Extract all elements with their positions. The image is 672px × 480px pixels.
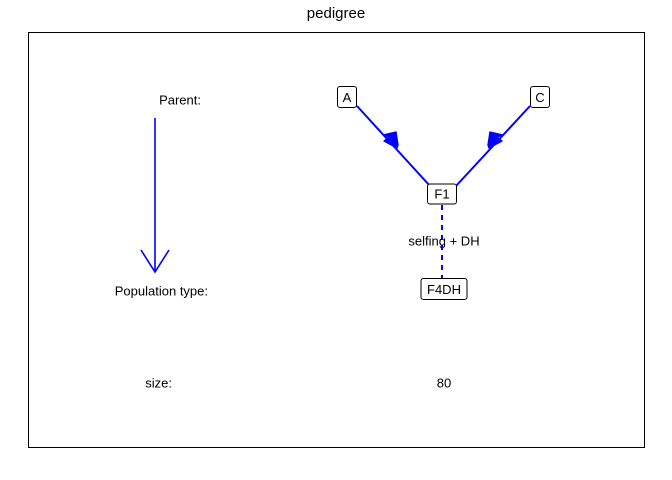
row-label-population-type: Population type: — [115, 284, 208, 299]
node-f4dh[interactable]: F4DH — [421, 278, 468, 300]
node-a[interactable]: A — [337, 86, 357, 108]
row-label-size: size: — [145, 376, 172, 391]
edge-label-selfing-dh: selfing + DH — [408, 234, 479, 249]
pedigree-plot: pedigree Parent: Population type: size: — [0, 0, 672, 480]
node-c[interactable]: C — [530, 86, 550, 108]
node-f1[interactable]: F1 — [427, 184, 457, 205]
value-size: 80 — [437, 376, 451, 391]
row-label-parent: Parent: — [159, 93, 201, 108]
page-title: pedigree — [0, 5, 672, 22]
